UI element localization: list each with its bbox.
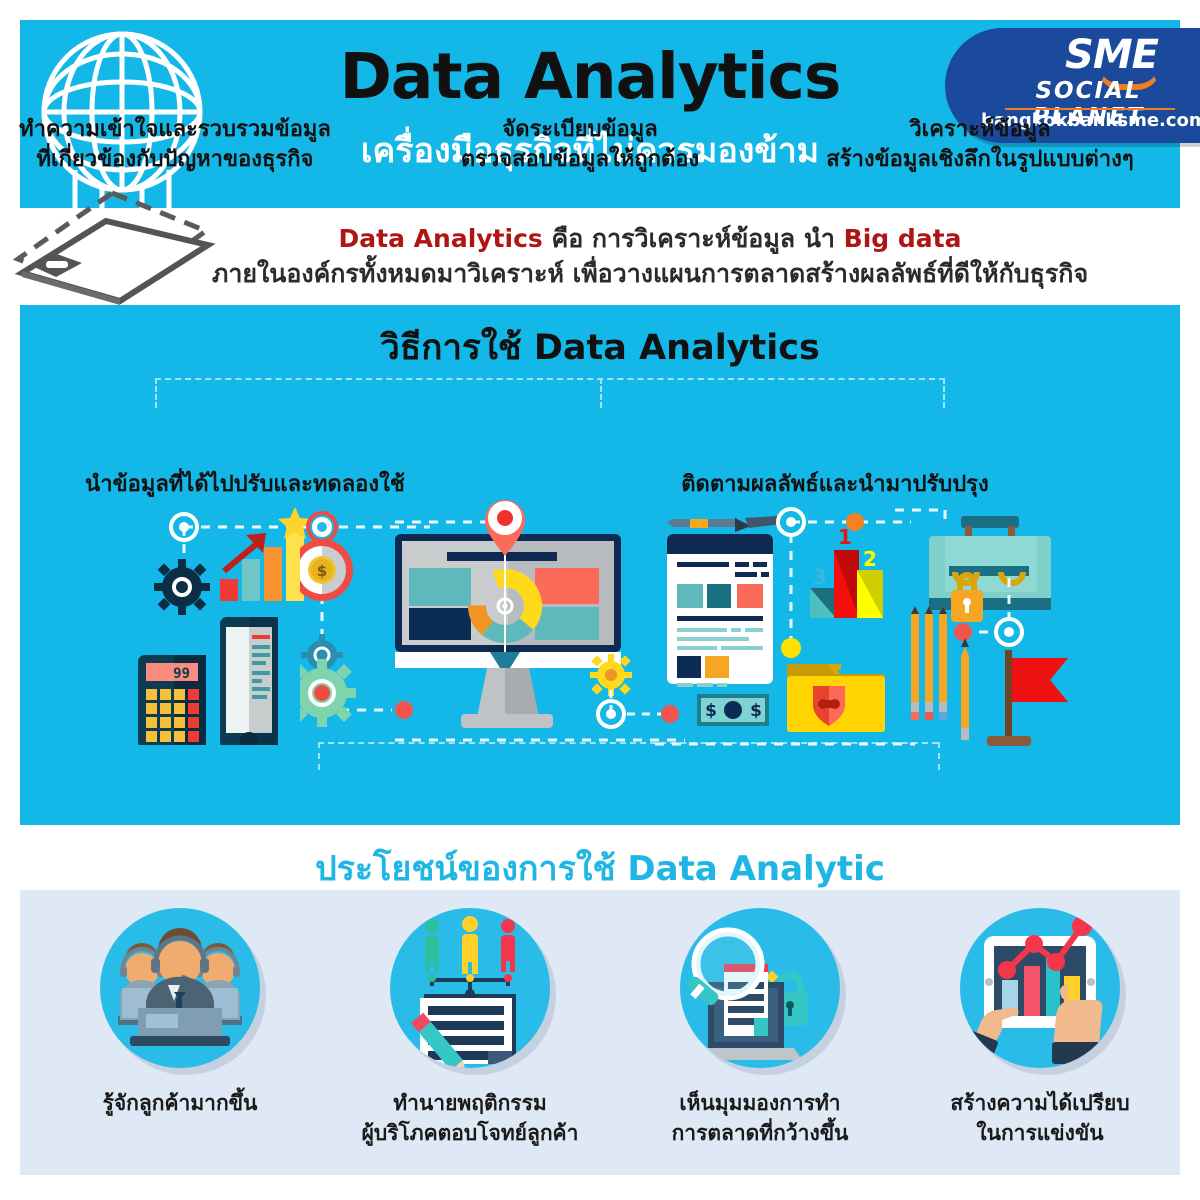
intro-emphasis-big-data: Big data [844,224,962,253]
intro-line-2: ภายในองค์กรทั้งหมดมาวิเคราะห์ เพื่อวางแผ… [150,256,1150,292]
intro-line-1: Data Analytics คือ การวิเคราะห์ข้อมูล นำ… [150,222,1150,256]
process-step-label-5: ติดตามผลลัพธ์และนำมาปรับปรุง [640,470,1030,500]
intro-text: Data Analytics คือ การวิเคราะห์ข้อมูล นำ… [150,222,1150,292]
svg-text:1: 1 [838,525,852,549]
benefit-caption-1: รู้จักลูกค้ามากขึ้น [40,1088,320,1118]
benefit-item-3[interactable]: เห็นมุมมองการทำ การตลาดที่กว้างขึ้น [620,908,900,1148]
svg-text:99: 99 [173,666,190,682]
benefit-item-4[interactable]: สร้างความได้เปรียบ ในการแข่งขัน [900,908,1180,1148]
benefit-caption-4: สร้างความได้เปรียบ ในการแข่งขัน [900,1088,1180,1148]
connector-top-right-tick [943,378,945,408]
benefit-item-2[interactable]: ทำนายพฤติกรรม ผู้บริโภคตอบโจทย์ลูกค้า [330,908,610,1148]
benefit-caption-2: ทำนายพฤติกรรม ผู้บริโภคตอบโจทย์ลูกค้า [330,1088,610,1148]
benefit-item-1[interactable]: รู้จักลูกค้ามากขึ้น [40,908,320,1118]
process-step-label-2: จัดระเบียบข้อมูล ตรวจสอบข้อมูลให้ถูกต้อง [420,115,740,175]
page-title: Data Analytics [240,42,940,112]
connector-top-left-tick [155,378,157,408]
connector-top-horizontal [155,378,945,380]
svg-text:$: $ [705,701,717,721]
call-center-agents-icon [100,908,260,1068]
svg-text:$: $ [317,562,327,580]
intro-line-1-middle: คือ การวิเคราะห์ข้อมูล นำ [543,224,844,253]
svg-text:3: 3 [813,565,827,589]
process-title: วิธีการใช้ Data Analytics [20,327,1180,369]
svg-text:2: 2 [863,547,877,571]
intro-emphasis-data-analytics: Data Analytics [339,224,543,253]
illustration-group-organize: $ $ 1 2 3 [655,500,915,754]
infographic-page: Data Analytics เครื่องมือธุรกิจที่ไม่ควร… [0,0,1200,1200]
tablet-chart-hands-icon [960,908,1120,1068]
process-step-label-3: วิเคราะห์ข้อมูล สร้างข้อมูลเชิงลึกในรูปแ… [810,115,1150,175]
magnifier-laptop-icon [680,908,840,1068]
survey-clipboard-icon [390,908,550,1068]
illustration-monitor-dashboard [395,500,685,754]
benefits-title: ประโยชน์ของการใช้ Data Analytic [0,848,1200,890]
svg-text:$: $ [750,701,762,721]
benefit-caption-3: เห็นมุมมองการทำ การตลาดที่กว้างขึ้น [620,1088,900,1148]
process-step-label-1: ทำความเข้าใจและรวบรวมข้อมูล ที่เกี่ยวข้อ… [10,115,340,175]
illustration-group-analyze [895,498,1165,754]
connector-top-middle-tick [600,378,602,408]
